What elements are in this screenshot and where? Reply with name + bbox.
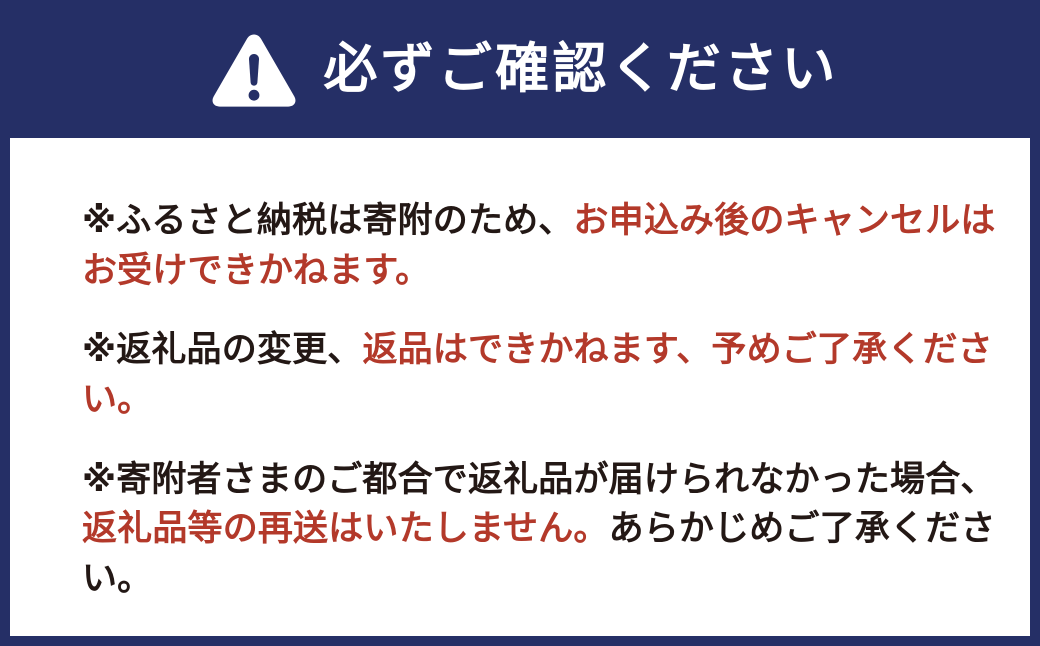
notice-item-3: ※寄附者さまのご都合で返礼品が届けられなかった場合、 返礼品等の再送はいたしませ… xyxy=(44,455,1004,604)
notice-marker: ※ xyxy=(82,330,116,369)
notice-text-dark: 寄附者さまのご都合で返礼品が届けられなかった場合、 xyxy=(116,460,995,499)
notice-card: 必ずご確認ください ※ふるさと納税は寄附のため、お申込み後のキャンセルは お受け… xyxy=(0,0,1040,646)
notice-item-2: ※返礼品の変更、返品はできかねます、予めご了承ください。 xyxy=(44,325,1004,424)
notice-text-dark: 返礼品の変更、 xyxy=(116,330,362,369)
notice-text-red: お申込み後のキャンセルは xyxy=(573,201,995,240)
notice-item-1: ※ふるさと納税は寄附のため、お申込み後のキャンセルは お受けできかねます。 xyxy=(44,196,1004,295)
notice-text-red: お受けできかねます。 xyxy=(82,251,430,290)
notice-header: 必ずご確認ください xyxy=(0,0,1040,138)
notice-body-frame: ※ふるさと納税は寄附のため、お申込み後のキャンセルは お受けできかねます。 ※返… xyxy=(0,138,1040,646)
warning-triangle-icon xyxy=(211,32,297,108)
page-title: 必ずご確認ください xyxy=(323,42,838,96)
notice-marker: ※ xyxy=(82,460,116,499)
notice-text-red: 返礼品等の再送はいたしません。 xyxy=(82,509,609,548)
notice-body: ※ふるさと納税は寄附のため、お申込み後のキャンセルは お受けできかねます。 ※返… xyxy=(10,138,1030,636)
notice-marker: ※ xyxy=(82,201,116,240)
notice-text-dark: ふるさと納税は寄附のため、 xyxy=(116,201,573,240)
